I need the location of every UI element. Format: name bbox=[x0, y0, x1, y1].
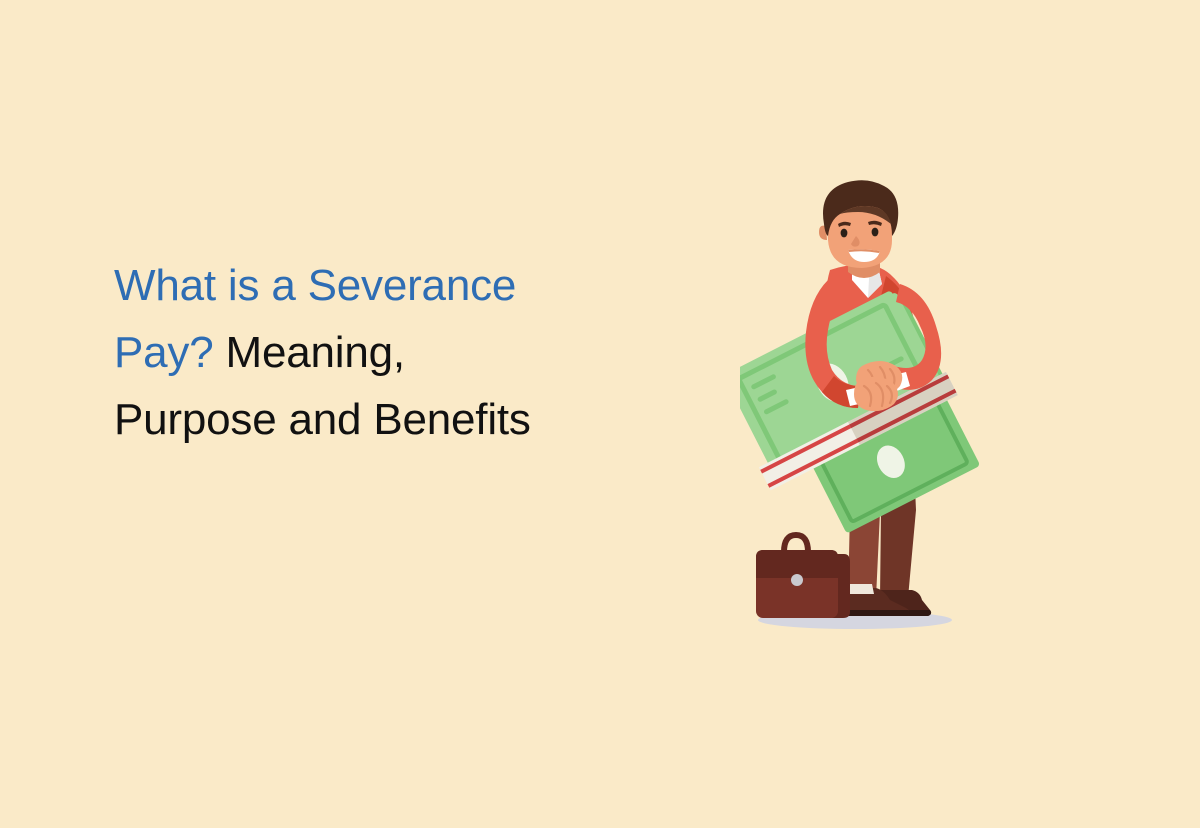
man-hugging-money-illustration bbox=[740, 180, 980, 650]
eye-right bbox=[872, 228, 879, 237]
headline-line-3: Purpose and Benefits bbox=[114, 386, 674, 453]
eye-left bbox=[841, 229, 848, 238]
front-sock bbox=[846, 584, 874, 594]
briefcase-flap bbox=[756, 550, 838, 578]
headline-line-1: What is a Severance bbox=[114, 252, 674, 319]
briefcase-handle bbox=[784, 535, 808, 552]
page-title: What is a Severance Pay? Meaning, Purpos… bbox=[114, 252, 674, 453]
briefcase-clasp bbox=[791, 574, 803, 586]
hero-illustration bbox=[740, 180, 980, 650]
headline-line-2: Pay? Meaning, bbox=[114, 319, 674, 386]
headline-dark-2: Meaning, bbox=[214, 328, 405, 377]
headline-dark-3: Purpose and Benefits bbox=[114, 395, 531, 444]
banner-canvas: What is a Severance Pay? Meaning, Purpos… bbox=[0, 0, 1200, 828]
headline-accent-2: Pay? bbox=[114, 328, 214, 377]
headline-accent-1: What is a Severance bbox=[114, 261, 516, 310]
front-shoe-sole bbox=[844, 610, 910, 616]
